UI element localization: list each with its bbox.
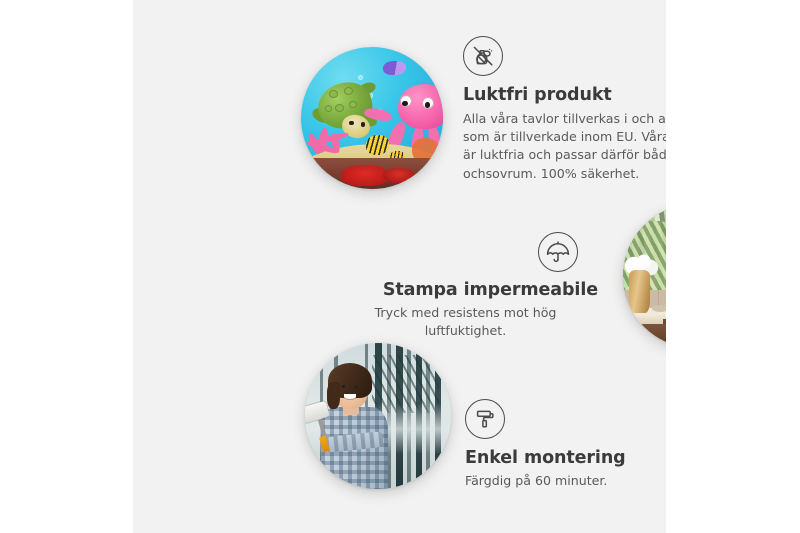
painter-scene <box>305 343 451 489</box>
medallion-underwater-kids-scene <box>301 47 443 189</box>
octopus-pupil <box>425 102 431 108</box>
bathroom-scene <box>623 204 666 348</box>
feature-description: Färgdig på 60 minuter. <box>465 472 666 490</box>
feature-title: Luktfri produkt <box>463 85 666 107</box>
red-crab <box>383 168 414 184</box>
hair <box>327 382 340 408</box>
wood-vanity-drawer <box>623 324 666 348</box>
octopus-pupil <box>402 101 408 107</box>
feature-easy-mounting: Enkel montering Färgdig på 60 minuter. <box>465 399 666 490</box>
smile <box>344 394 356 399</box>
medallion-bathroom-tropical-wallpaper <box>623 204 666 348</box>
turtle-shell-spot <box>344 87 353 95</box>
feature-description: Alla våra tavlor tillverkas i och av pro… <box>463 110 666 183</box>
no-fragrance-icon <box>463 36 503 76</box>
feature-title: Stampa impermeabile <box>333 280 598 302</box>
umbrella-icon <box>538 232 578 272</box>
feature-odour-free: Luktfri produkt Alla våra tavlor tillver… <box>463 36 666 183</box>
paint-roller-icon <box>465 399 505 439</box>
promo-graphic: Luktfri produkt Alla våra tavlor tillver… <box>0 0 800 533</box>
turtle-shell-spot <box>329 90 338 98</box>
feature-description: Tryck med resistens mot hög luftfuktighe… <box>333 304 598 341</box>
eye <box>342 385 345 387</box>
turtle-eye <box>361 122 366 127</box>
feature-waterproof-print: Stampa impermeabile Tryck med resistens … <box>333 232 598 340</box>
red-crab <box>341 165 389 186</box>
feature-title: Enkel montering <box>465 448 666 470</box>
striped-fish <box>366 135 389 155</box>
soap-dish <box>652 305 666 312</box>
feature-panel: Luktfri produkt Alla våra tavlor tillver… <box>133 0 666 533</box>
medallion-woman-painter-forest <box>305 343 451 489</box>
turtle-shell-spot <box>335 104 344 112</box>
gold-vase <box>629 270 651 313</box>
underwater-scene <box>301 47 443 189</box>
